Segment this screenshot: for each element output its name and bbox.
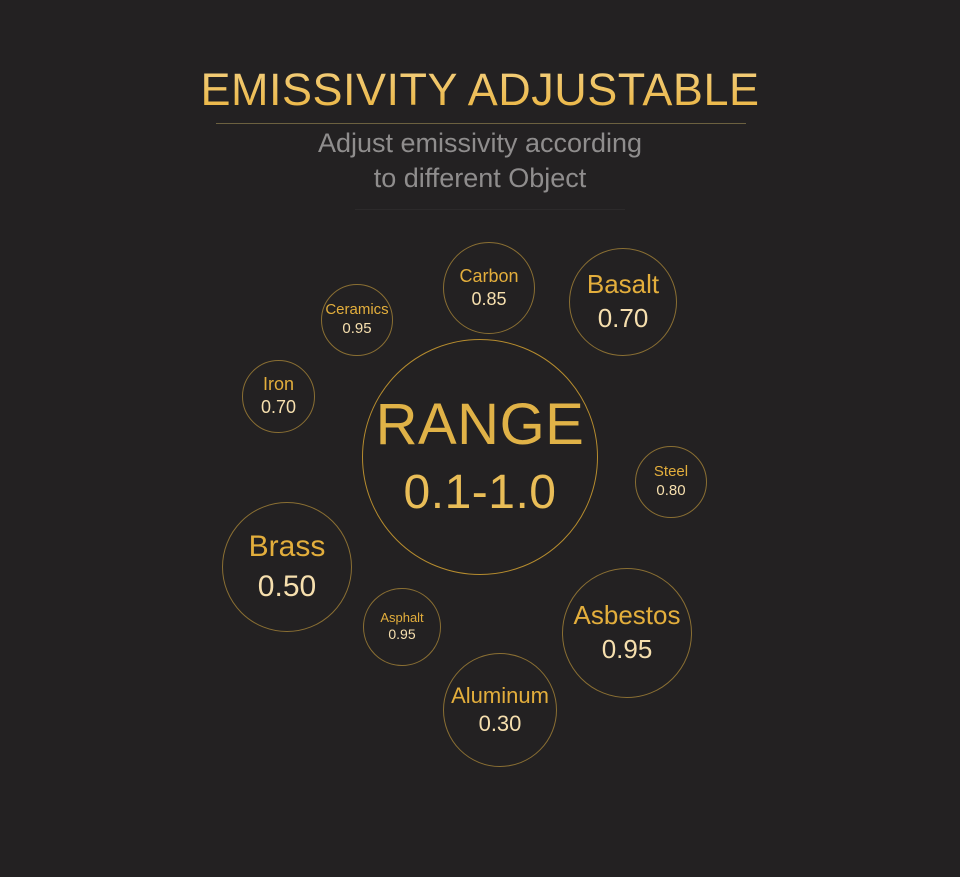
bubble-label: Ceramics [325, 302, 388, 318]
bubble-value: 0.95 [342, 321, 371, 338]
bubble-value: 0.95 [388, 627, 415, 642]
bubble-cluster: RANGE 0.1-1.0 Ceramics 0.95 Carbon 0.85 … [0, 0, 960, 877]
bubble-label: RANGE [376, 394, 585, 455]
bubble-steel: Steel 0.80 [635, 446, 707, 518]
bubble-value: 0.50 [258, 570, 316, 603]
bubble-label: Brass [249, 531, 326, 563]
emissivity-infographic: EMISSIVITY ADJUSTABLE Adjust emissivity … [0, 0, 960, 877]
bubble-asphalt: Asphalt 0.95 [363, 588, 441, 666]
bubble-label: Steel [654, 464, 688, 480]
bubble-value: 0.70 [598, 304, 649, 333]
bubble-value: 0.1-1.0 [404, 467, 557, 520]
bubble-label: Aluminum [451, 684, 549, 707]
bubble-asbestos: Asbestos 0.95 [562, 568, 692, 698]
bubble-value: 0.80 [656, 483, 685, 500]
bubble-label: Asbestos [574, 602, 681, 630]
bubble-label: Carbon [459, 267, 518, 286]
bubble-value: 0.70 [261, 398, 296, 418]
bubble-carbon: Carbon 0.85 [443, 242, 535, 334]
bubble-label: Asphalt [380, 611, 423, 625]
bubble-range-center: RANGE 0.1-1.0 [362, 339, 598, 575]
bubble-brass: Brass 0.50 [222, 502, 352, 632]
bubble-value: 0.95 [602, 635, 653, 664]
bubble-iron: Iron 0.70 [242, 360, 315, 433]
bubble-label: Iron [263, 375, 294, 394]
bubble-value: 0.85 [471, 290, 506, 310]
bubble-label: Basalt [587, 271, 659, 299]
bubble-aluminum: Aluminum 0.30 [443, 653, 557, 767]
bubble-ceramics: Ceramics 0.95 [321, 284, 393, 356]
bubble-value: 0.30 [479, 712, 522, 736]
bubble-basalt: Basalt 0.70 [569, 248, 677, 356]
